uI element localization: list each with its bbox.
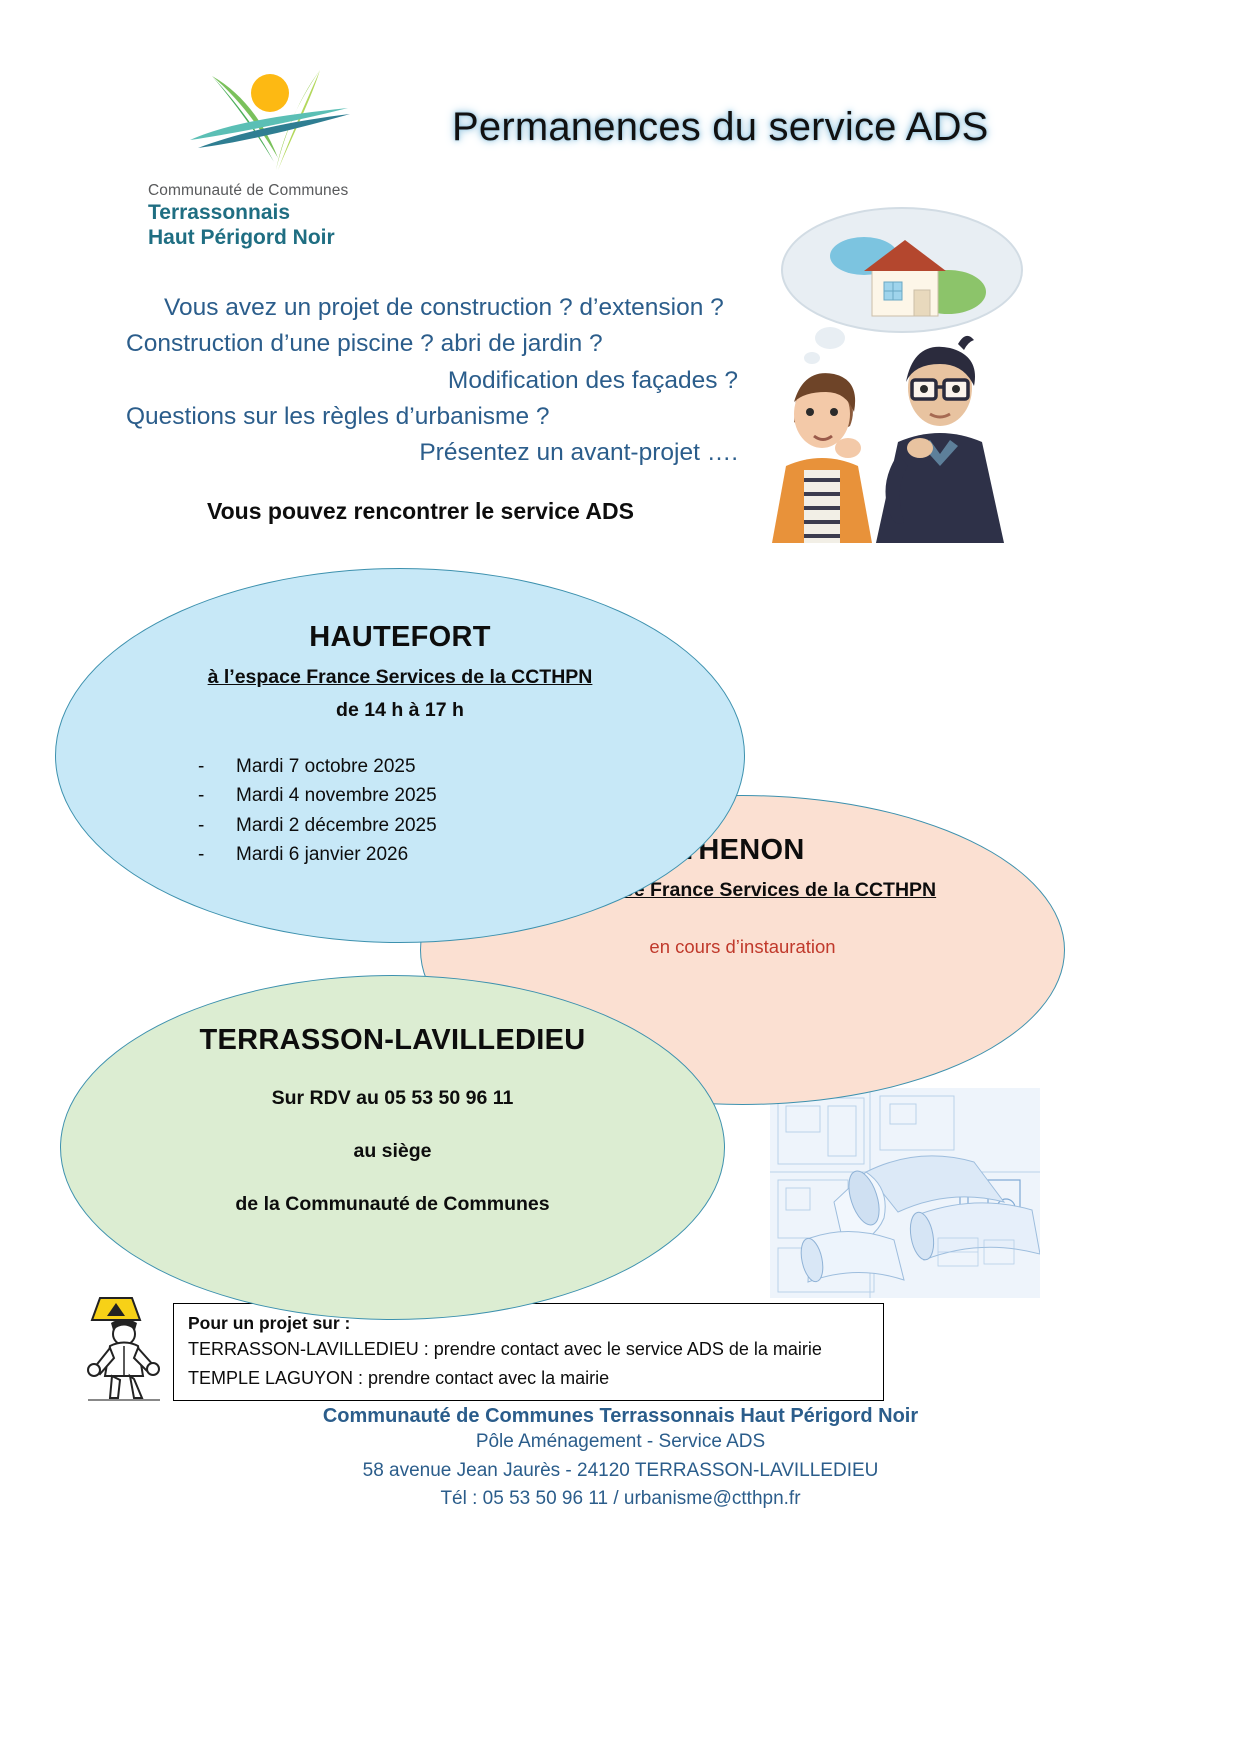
list-item: - Mardi 7 octobre 2025 <box>198 752 744 781</box>
bullet-dash: - <box>198 811 236 840</box>
hautefort-subtitle: à l’espace France Services de la CCTHPN <box>56 666 744 689</box>
notice-box: Pour un projet sur : TERRASSON-LAVILLEDI… <box>173 1303 884 1401</box>
question-line-1: Vous avez un projet de construction ? d’… <box>126 290 766 326</box>
blueprint-photo <box>770 1088 1040 1298</box>
question-line-2: Construction d’une piscine ? abri de jar… <box>126 326 766 362</box>
logo-line-3: Haut Périgord Noir <box>148 225 378 250</box>
people-thinking-illustration <box>752 198 1037 543</box>
question-line-5: Présentez un avant-projet …. <box>126 435 766 471</box>
question-line-3: Modification des façades ? <box>126 363 766 399</box>
meet-service-line: Vous pouvez rencontrer le service ADS <box>207 498 634 525</box>
terrasson-org-line: de la Communauté de Communes <box>61 1193 724 1216</box>
list-item: - Mardi 6 janvier 2026 <box>198 840 744 869</box>
date-label: Mardi 7 octobre 2025 <box>236 752 416 781</box>
date-label: Mardi 6 janvier 2026 <box>236 840 408 869</box>
ellipse-hautefort: HAUTEFORT à l’espace France Services de … <box>55 568 745 943</box>
bullet-dash: - <box>198 781 236 810</box>
hautefort-hours: de 14 h à 17 h <box>56 699 744 722</box>
ellipse-terrasson: TERRASSON-LAVILLEDIEU Sur RDV au 05 53 5… <box>60 975 725 1320</box>
date-label: Mardi 2 décembre 2025 <box>236 811 437 840</box>
terrasson-phone-line: Sur RDV au 05 53 50 96 11 <box>61 1087 724 1110</box>
list-item: - Mardi 2 décembre 2025 <box>198 811 744 840</box>
bullet-dash: - <box>198 840 236 869</box>
footer: Communauté de Communes Terrassonnais Hau… <box>0 1405 1241 1514</box>
logo-mark-icon <box>170 58 370 178</box>
terrasson-title: TERRASSON-LAVILLEDIEU <box>61 1024 724 1057</box>
footer-contact: Tél : 05 53 50 96 11 / urbanisme@ctthpn.… <box>0 1485 1241 1514</box>
notice-line-1: TERRASSON-LAVILLEDIEU : prendre contact … <box>188 1337 869 1363</box>
list-item: - Mardi 4 novembre 2025 <box>198 781 744 810</box>
logo-line-2: Terrassonnais <box>148 200 378 225</box>
questions-block: Vous avez un projet de construction ? d’… <box>126 290 766 471</box>
hautefort-date-list: - Mardi 7 octobre 2025 - Mardi 4 novembr… <box>56 752 744 870</box>
footer-org-name: Communauté de Communes Terrassonnais Hau… <box>0 1405 1241 1428</box>
footer-department: Pôle Aménagement - Service ADS <box>0 1428 1241 1457</box>
thenon-status-note: en cours d’instauration <box>421 936 1064 958</box>
footer-address: 58 avenue Jean Jaurès - 24120 TERRASSON-… <box>0 1457 1241 1486</box>
construction-worker-icon <box>80 1290 168 1402</box>
question-line-4: Questions sur les règles d’urbanisme ? <box>126 399 766 435</box>
logo-line-1: Communauté de Communes <box>148 182 378 200</box>
date-label: Mardi 4 novembre 2025 <box>236 781 437 810</box>
bullet-dash: - <box>198 752 236 781</box>
hautefort-title: HAUTEFORT <box>56 621 744 654</box>
page-title: Permanences du service ADS <box>452 105 989 150</box>
organization-logo: Communauté de Communes Terrassonnais Hau… <box>148 58 378 250</box>
notice-line-2: TEMPLE LAGUYON : prendre contact avec la… <box>188 1366 869 1392</box>
terrasson-location-line: au siège <box>61 1140 724 1163</box>
notice-title: Pour un projet sur : <box>188 1313 869 1334</box>
